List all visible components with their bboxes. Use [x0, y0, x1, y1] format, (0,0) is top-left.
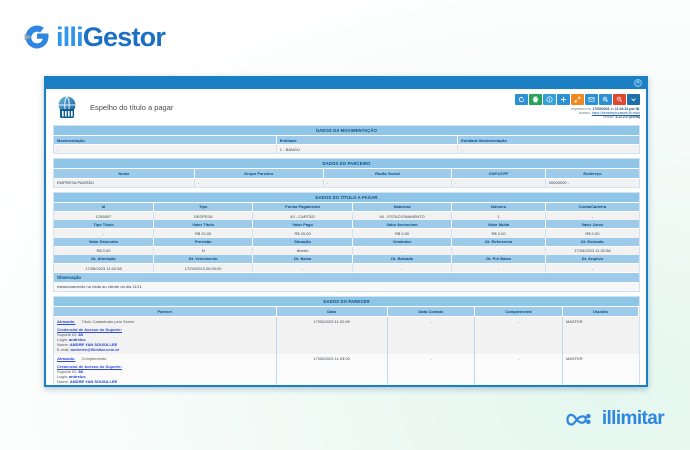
section-titulo-a-pagar: DADOS DO TÍTULO A PAGAR Id Tipo Forma Pa…	[53, 192, 640, 292]
cell-value: 46 - ESTACIONAMENTO	[352, 211, 451, 220]
section-title-parceiro: DADOS DO PARCEIRO	[54, 159, 639, 169]
cell-value: -	[545, 264, 639, 273]
table-header-row: Id Tipo Forma Pagamento Natureza Número …	[54, 203, 639, 212]
cell-value: -	[253, 264, 352, 273]
print-button[interactable]	[529, 94, 542, 105]
column-header: Parecer	[54, 307, 276, 317]
parecer-complemento: -	[475, 316, 563, 354]
column-header: Data Contato	[387, 307, 475, 317]
credential-key: E-mail:	[57, 347, 69, 352]
table-row: Atrasado.Título Cadastrado pelo Senior C…	[54, 316, 639, 354]
app-window: ×	[44, 76, 648, 387]
column-header: Valor Juros	[545, 220, 639, 229]
column-header: Previsão	[153, 238, 252, 247]
section-title-parecer: DADOS DO PARECER	[54, 297, 639, 307]
cell-value: -	[352, 246, 451, 255]
column-header: Dt. Pré Baixa	[452, 255, 546, 264]
expand-button[interactable]	[571, 94, 584, 105]
table-row: - 1 - BANGU -	[54, 145, 639, 154]
cell-value: 1	[452, 211, 546, 220]
column-header: Data	[276, 307, 387, 317]
cell-value: 17/05/2023 11:02:58	[545, 246, 639, 255]
table-row: 17/05/2023 11:02:58 17/05/2023 00:00:00 …	[54, 264, 639, 273]
table-header-row: Valor Desconto Previsão Situação Vendedo…	[54, 238, 639, 247]
column-header: Usuário	[563, 307, 639, 317]
column-header: Tipo Título	[54, 220, 153, 229]
table-header-row: Dt. Alteração Dt. Vencimento Dt. Baixa D…	[54, 255, 639, 264]
column-header: Valor Pago	[253, 220, 352, 229]
table-row: - R$ 20,00 R$ 20,00 R$ 0,00 R$ 0,00 R$ 0…	[54, 229, 639, 238]
column-header: Endereço	[545, 169, 639, 178]
observacao-label: Observação	[54, 272, 639, 282]
stamp-version-label: Versão:	[603, 115, 615, 119]
table-header-row: Movimentação Entidade Entidade Movimenta…	[54, 136, 639, 145]
footer-brand-text: illimitar	[602, 409, 664, 428]
globe-illi-icon	[54, 94, 80, 120]
table-row: EMPRESA PADRÃO - - - 00000000 -	[54, 178, 639, 187]
column-header: Id	[54, 203, 153, 212]
cell-value: -	[452, 178, 546, 187]
column-header: Dt. Vencimento	[153, 255, 252, 264]
section-title-movimentacao: DADOS DA MOVIMENTAÇÃO	[54, 126, 639, 136]
cell-value: R$ 0,00	[54, 246, 153, 255]
column-header: Situação	[253, 238, 352, 247]
parecer-usuario: MASTER	[563, 316, 639, 354]
parecer-subject: Título Cadastrado pelo Senior	[81, 319, 134, 324]
brand-title-part1: illi	[56, 22, 83, 52]
cell-value: R$ 20,00	[153, 229, 252, 238]
header-right: Impresso em: 17/05/2023 às 11:04:24 por …	[515, 94, 640, 120]
table-header-row: Tipo Título Valor Título Valor Pago Valo…	[54, 220, 639, 229]
cell-value: 1255507	[54, 211, 153, 220]
column-header: Natureza	[352, 203, 451, 212]
email-button[interactable]	[585, 94, 598, 105]
page-title: Espelho do título a pagar	[90, 103, 173, 112]
section-parecer: DADOS DO PARECER Parecer Data Data Conta…	[53, 296, 640, 385]
cell-value: DESPESA	[153, 211, 252, 220]
column-header: Dt. Emissão	[545, 238, 639, 247]
cell-value: 17/05/2023 00:00:00	[153, 264, 252, 273]
info-button[interactable]	[543, 94, 556, 105]
column-header: Dt. Referencia	[452, 238, 546, 247]
column-header: Dt. Arquivo	[545, 255, 639, 264]
column-header: Nome	[54, 169, 194, 178]
parecer-table: Parecer Data Data Contato Complemento Us…	[54, 307, 639, 385]
cell-value: R$ 0,00	[352, 229, 451, 238]
zoom-out-button[interactable]	[613, 94, 626, 105]
parecer-cell: Atrasado.Complemento Credencial de Acess…	[54, 354, 276, 385]
section-parceiro: DADOS DO PARCEIRO Nome Grupo Parceiro Ra…	[53, 158, 640, 187]
table-header-row: Nome Grupo Parceiro Razão Social CNPJ/CP…	[54, 169, 639, 178]
cell-value: -	[54, 145, 276, 154]
cell-value: -	[323, 178, 452, 187]
column-header: Valor Acréscimo	[352, 220, 451, 229]
table-row: R$ 0,00 N Aberto - - 17/05/2023 11:02:58	[54, 246, 639, 255]
cell-value: -	[452, 246, 546, 255]
parecer-complemento: -	[475, 354, 563, 385]
parecer-data: 17/05/2023 11:03:00	[276, 354, 387, 385]
app-header: Espelho do título a pagar Impresso em:	[46, 89, 646, 125]
cell-value: -	[545, 211, 639, 220]
cell-value: 40 - CARTÃO	[253, 211, 352, 220]
column-header: Grupo Parceiro	[194, 169, 323, 178]
credential-block: Credencial de Acesso do Suporte: Suporte…	[57, 327, 273, 352]
parecer-tag[interactable]: Atrasado.	[57, 319, 75, 324]
brand-title-part2: Gestor	[83, 22, 165, 52]
column-header: Complemento	[475, 307, 563, 317]
stamp-version-value: 3.12.2.0 (DVRb)	[615, 115, 640, 119]
credential-email[interactable]: andrelee@illimitar.com.br	[71, 384, 120, 385]
zoom-in-button[interactable]	[599, 94, 612, 105]
footer-brand: illimitar	[565, 409, 664, 428]
window-titlebar: ×	[46, 76, 646, 89]
column-header: Entidade Movimentação	[458, 136, 639, 145]
pin-button[interactable]	[557, 94, 570, 105]
table-header-row: Parecer Data Data Contato Complemento Us…	[54, 307, 639, 317]
observacao-value: estacionamento na visita ao cliente do d…	[54, 282, 639, 291]
section-movimentacao: DADOS DA MOVIMENTAÇÃO Movimentação Entid…	[53, 125, 640, 154]
parecer-data: 17/05/2023 11:02:59	[276, 316, 387, 354]
cell-value: 17/05/2023 11:02:58	[54, 264, 153, 273]
titulo-table: Id Tipo Forma Pagamento Natureza Número …	[54, 203, 639, 273]
report-content: DADOS DA MOVIMENTAÇÃO Movimentação Entid…	[46, 125, 646, 385]
stamp-access-label: Acesso:	[579, 111, 591, 115]
cell-value: -	[194, 178, 323, 187]
parecer-data-contato: -	[387, 354, 475, 385]
column-header: Valor Multa	[452, 220, 546, 229]
column-header: Conta/Carteira	[545, 203, 639, 212]
cell-value: R$ 0,00	[452, 229, 546, 238]
column-header: Movimentação	[54, 136, 276, 145]
column-header: Número	[452, 203, 546, 212]
cell-value: Aberto	[253, 246, 352, 255]
infinity-icon	[565, 410, 599, 428]
credential-key: E-mail:	[57, 384, 69, 385]
stamp-version-line: Versão: 3.12.2.0 (DVRb)	[515, 115, 640, 119]
table-row: 1255507 DESPESA 40 - CARTÃO 46 - ESTACIO…	[54, 211, 639, 220]
column-header: CNPJ/CPF	[452, 169, 546, 178]
column-header: Razão Social	[323, 169, 452, 178]
column-header: Dt. Alteração	[54, 255, 153, 264]
close-icon[interactable]: ×	[634, 79, 642, 87]
column-header: Dt. Baixada	[352, 255, 451, 264]
movimentacao-table: Movimentação Entidade Entidade Movimenta…	[54, 136, 639, 153]
parecer-tag[interactable]: Atrasado.	[57, 356, 75, 361]
cell-value: 1 - BANGU	[276, 145, 457, 154]
column-header: Vendedor	[352, 238, 451, 247]
cell-value: N	[153, 246, 252, 255]
parceiro-table: Nome Grupo Parceiro Razão Social CNPJ/CP…	[54, 169, 639, 186]
cell-value: 00000000 -	[545, 178, 639, 187]
column-header: Forma Pagamento	[253, 203, 352, 212]
cell-value: -	[54, 229, 153, 238]
cell-value: R$ 0,00	[545, 229, 639, 238]
cell-value: EMPRESA PADRÃO	[54, 178, 194, 187]
window-body: Espelho do título a pagar Impresso em:	[46, 89, 646, 385]
cell-value: R$ 20,00	[253, 229, 352, 238]
parecer-usuario: MASTER	[563, 354, 639, 385]
column-header: Entidade	[276, 136, 457, 145]
brand-title: illiGestor	[56, 22, 165, 52]
brand-header: illiGestor	[22, 22, 165, 52]
table-row: Atrasado.Complemento Credencial de Acess…	[54, 354, 639, 385]
parecer-cell: Atrasado.Título Cadastrado pelo Senior C…	[54, 316, 276, 354]
column-header: Valor Desconto	[54, 238, 153, 247]
print-stamp: Impresso em: 17/05/2023 às 11:04:24 por …	[515, 107, 640, 120]
cell-value: -	[352, 264, 451, 273]
column-header: Dt. Baixa	[253, 255, 352, 264]
parecer-subject: Complemento	[81, 356, 106, 361]
refresh-button[interactable]	[515, 94, 528, 105]
credential-block: Credencial de Acesso do Suporte: Suporte…	[57, 364, 273, 385]
g-logo-icon	[22, 22, 52, 52]
parecer-data-contato: -	[387, 316, 475, 354]
credential-email[interactable]: andrelee@illimitar.com.br	[71, 347, 120, 352]
toolbar	[515, 94, 640, 105]
column-header: Valor Título	[153, 220, 252, 229]
cell-value: -	[458, 145, 639, 154]
column-header: Tipo	[153, 203, 252, 212]
cell-value: -	[452, 264, 546, 273]
more-dropdown-button[interactable]	[627, 94, 640, 105]
section-title-titulo: DADOS DO TÍTULO A PAGAR	[54, 193, 639, 203]
